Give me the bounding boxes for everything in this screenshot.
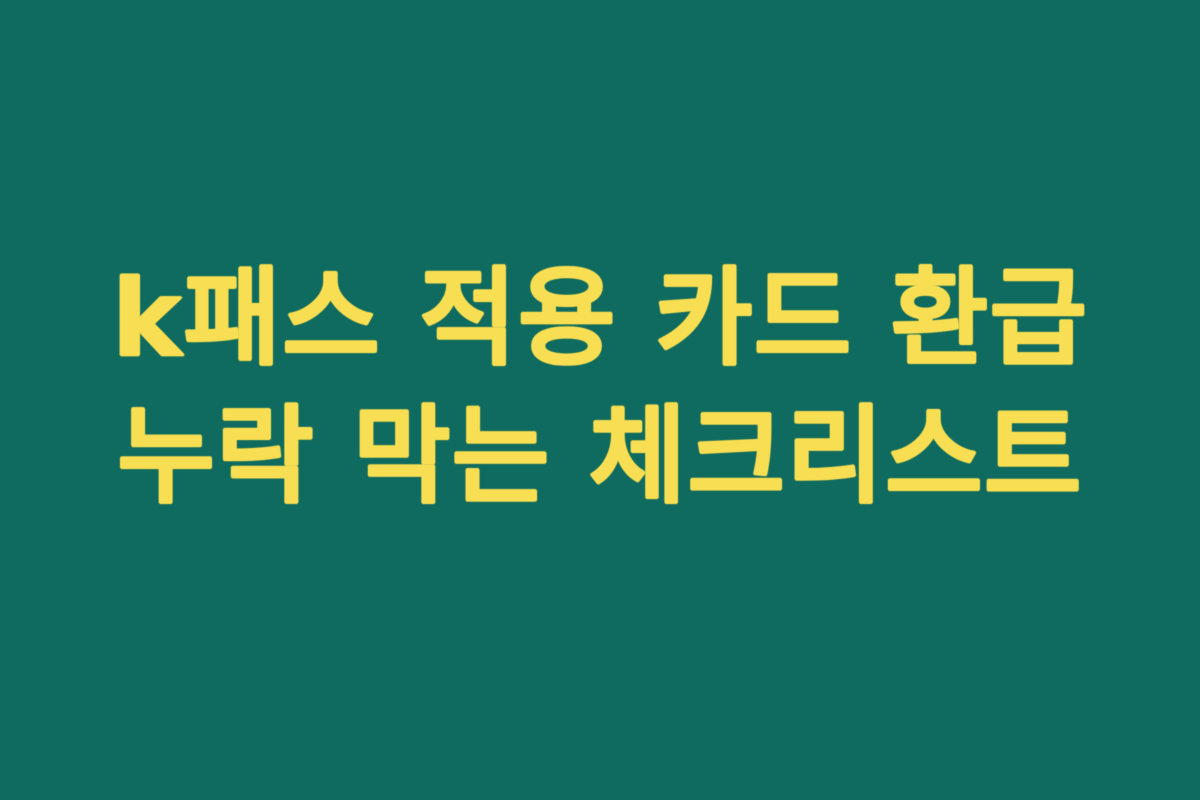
headline-block: k패스 적용 카드 환급 누락 막는 체크리스트 xyxy=(0,250,1200,526)
headline-line-1: k패스 적용 카드 환급 xyxy=(112,250,1089,388)
thumbnail-card: k패스 적용 카드 환급 누락 막는 체크리스트 xyxy=(0,0,1200,800)
headline-line-2: 누락 막는 체크리스트 xyxy=(117,388,1082,526)
